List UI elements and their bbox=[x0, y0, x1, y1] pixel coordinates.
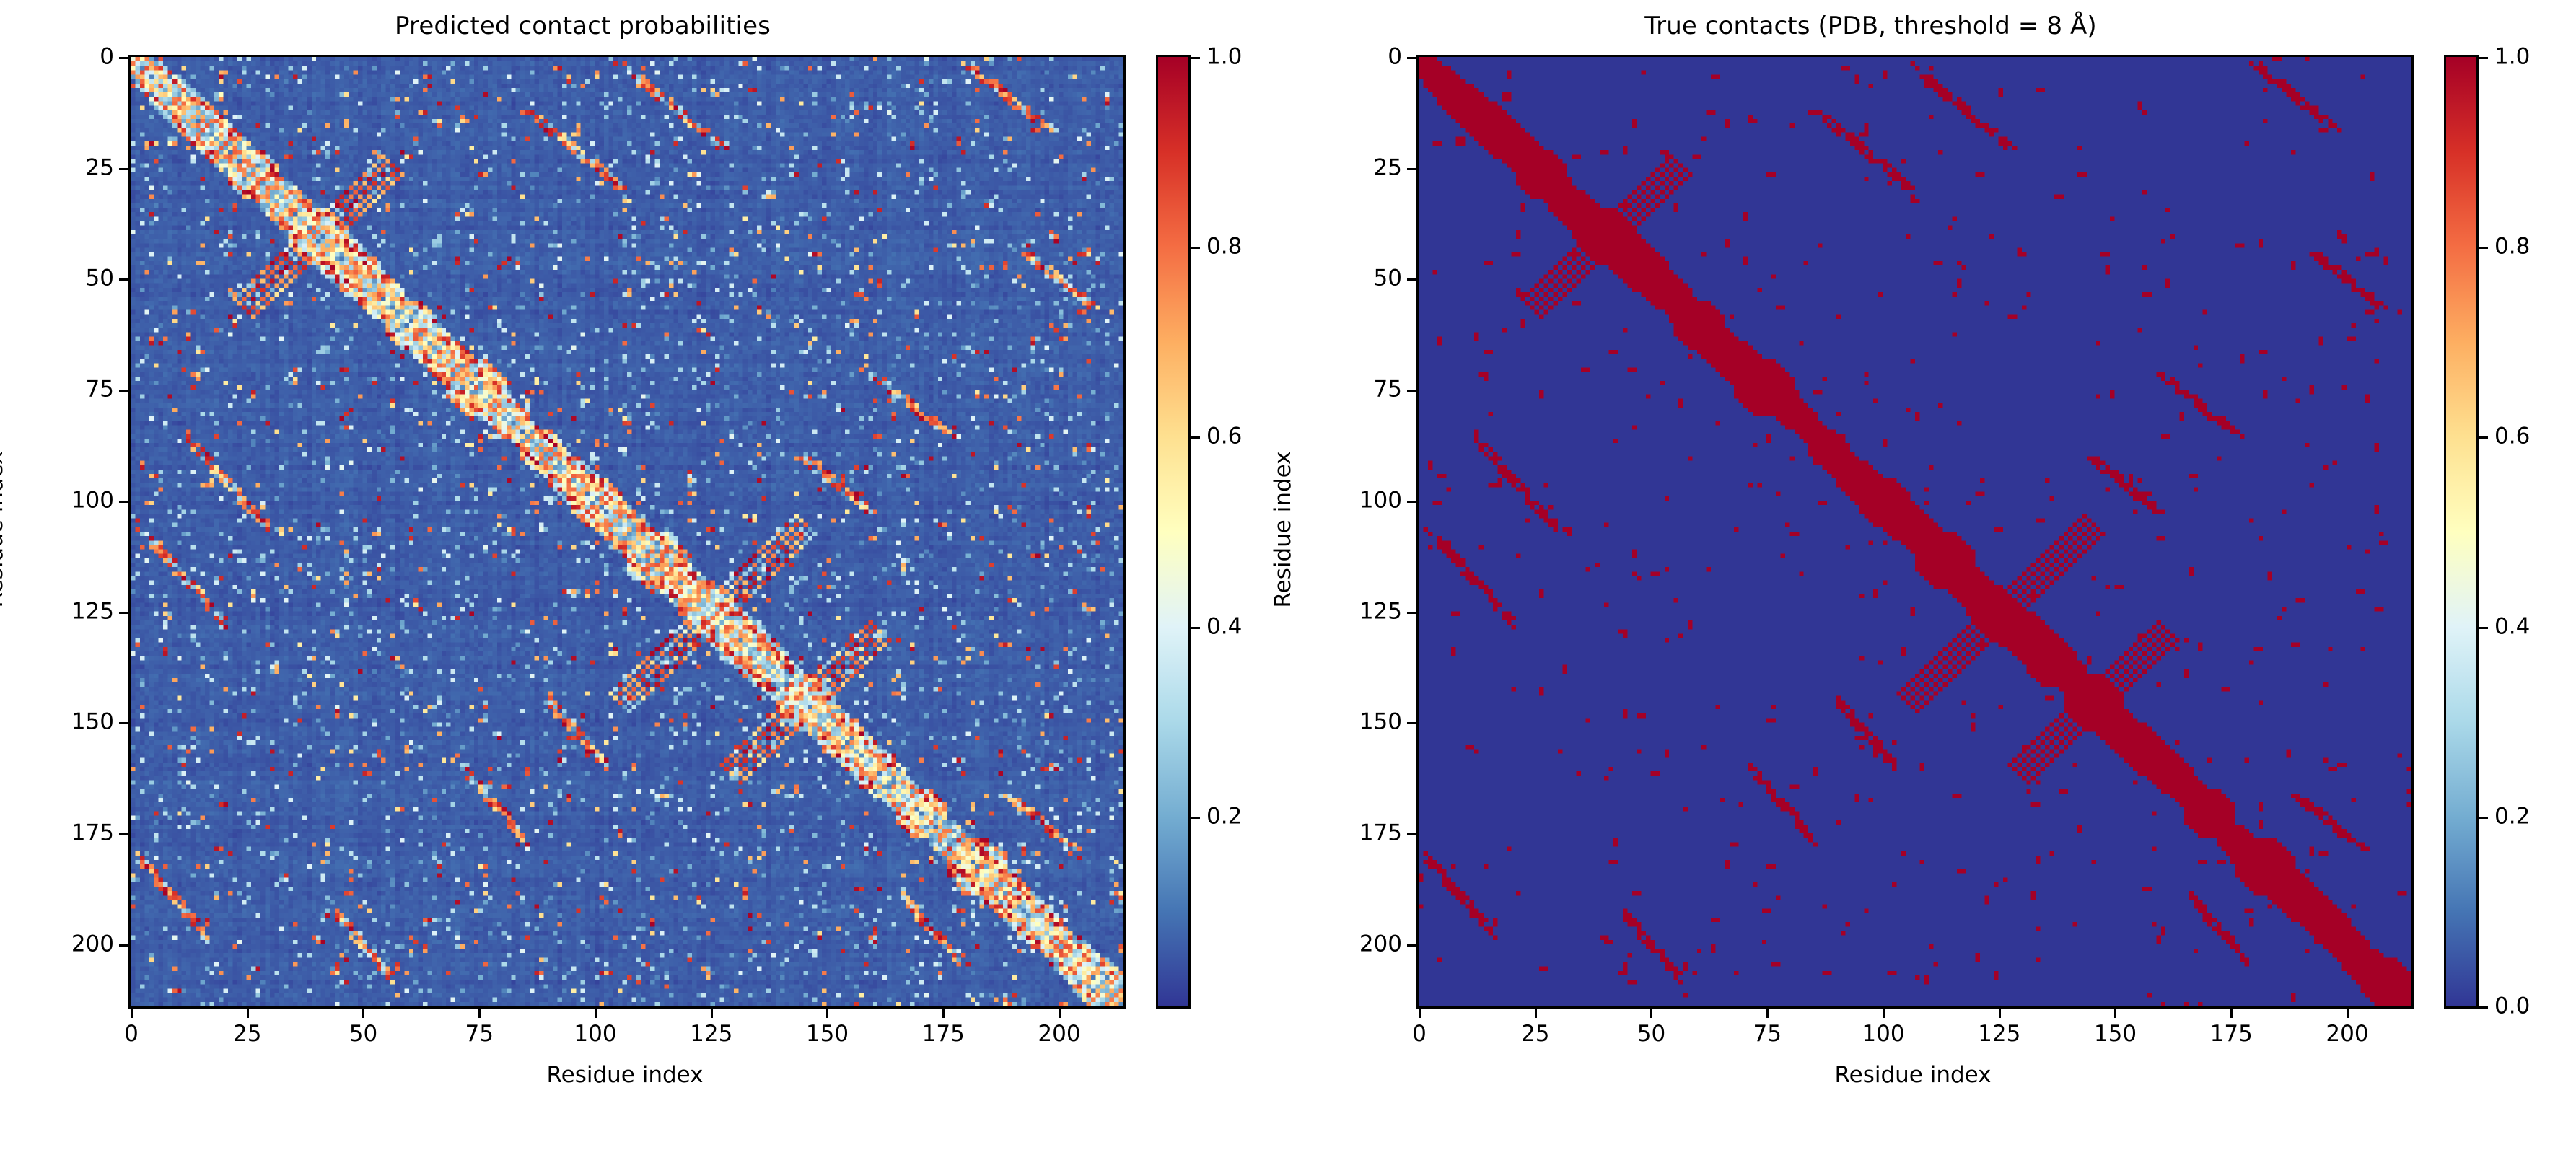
x-tick-mark bbox=[1999, 1009, 2001, 1018]
x-tick-mark bbox=[1059, 1009, 1061, 1018]
y-tick-mark bbox=[119, 390, 128, 392]
contact-map-figure: Predicted contact probabilities 02550751… bbox=[0, 0, 2576, 1155]
x-tick-label: 200 bbox=[1038, 1023, 1080, 1045]
y-tick-label: 125 bbox=[1323, 600, 1402, 623]
x-tick-mark bbox=[2230, 1009, 2233, 1018]
x-tick-label: 200 bbox=[2326, 1023, 2368, 1045]
colorbar-tick-mark bbox=[2479, 247, 2488, 249]
y-tick-label: 75 bbox=[35, 379, 114, 401]
y-tick-label: 0 bbox=[1323, 46, 1402, 69]
y-tick-label: 100 bbox=[1323, 489, 1402, 511]
x-tick-mark bbox=[1650, 1009, 1652, 1018]
y-tick-label: 125 bbox=[35, 600, 114, 623]
y-tick-mark bbox=[1407, 944, 1416, 947]
x-tick-mark bbox=[1419, 1009, 1421, 1018]
y-tick-label: 175 bbox=[1323, 822, 1402, 845]
y-axis-label-predicted: Residue index bbox=[0, 451, 8, 607]
x-tick-mark bbox=[595, 1009, 597, 1018]
x-tick-label: 100 bbox=[574, 1023, 616, 1045]
y-tick-label: 0 bbox=[35, 46, 114, 69]
colorbar-tick-mark bbox=[2479, 817, 2488, 819]
y-tick-label: 50 bbox=[35, 268, 114, 290]
colorbar-tick-label: 0.8 bbox=[2494, 236, 2530, 258]
y-tick-mark bbox=[119, 722, 128, 724]
y-tick-label: 100 bbox=[35, 489, 114, 511]
x-tick-label: 75 bbox=[1753, 1023, 1782, 1045]
y-tick-mark bbox=[1407, 501, 1416, 503]
colorbar-tick-label: 0.0 bbox=[2494, 996, 2530, 1018]
y-tick-mark bbox=[1407, 390, 1416, 392]
y-tick-label: 200 bbox=[1323, 933, 1402, 955]
x-tick-mark bbox=[711, 1009, 713, 1018]
x-axis-label-predicted: Residue index bbox=[546, 1062, 703, 1088]
x-tick-label: 0 bbox=[124, 1023, 139, 1045]
y-tick-mark bbox=[119, 278, 128, 281]
y-tick-label: 50 bbox=[1323, 268, 1402, 290]
colorbar-tick-label: 0.6 bbox=[1206, 426, 1242, 448]
y-tick-label: 150 bbox=[35, 711, 114, 734]
x-tick-mark bbox=[1535, 1009, 1537, 1018]
x-tick-mark bbox=[247, 1009, 249, 1018]
x-tick-label: 25 bbox=[233, 1023, 261, 1045]
y-tick-mark bbox=[1407, 612, 1416, 614]
colorbar-tick-mark bbox=[1191, 436, 1200, 439]
colorbar-predicted bbox=[1156, 55, 1191, 1009]
y-tick-label: 200 bbox=[35, 933, 114, 955]
panel-title-predicted: Predicted contact probabilities bbox=[0, 12, 1288, 40]
x-tick-label: 175 bbox=[2210, 1023, 2253, 1045]
y-tick-label: 175 bbox=[35, 822, 114, 845]
x-tick-label: 50 bbox=[349, 1023, 377, 1045]
colorbar-tick-mark bbox=[2479, 1006, 2488, 1009]
colorbar-true bbox=[2444, 55, 2479, 1009]
x-tick-label: 50 bbox=[1637, 1023, 1665, 1045]
heatmap-axes-predicted bbox=[128, 55, 1126, 1009]
y-tick-mark bbox=[1407, 57, 1416, 59]
colorbar-tick-mark bbox=[1191, 817, 1200, 819]
x-axis-label-true: Residue index bbox=[1834, 1062, 1991, 1088]
y-tick-mark bbox=[1407, 722, 1416, 724]
y-tick-mark bbox=[119, 833, 128, 835]
colorbar-tick-label: 0.2 bbox=[2494, 805, 2530, 827]
x-tick-label: 0 bbox=[1412, 1023, 1427, 1045]
y-tick-mark bbox=[119, 612, 128, 614]
x-tick-mark bbox=[2347, 1009, 2349, 1018]
heatmap-axes-true bbox=[1416, 55, 2414, 1009]
y-tick-label: 25 bbox=[1323, 157, 1402, 179]
x-tick-label: 150 bbox=[2094, 1023, 2137, 1045]
colorbar-tick-label: 0.8 bbox=[1206, 236, 1242, 258]
y-tick-mark bbox=[119, 944, 128, 947]
panel-true-contacts: True contacts (PDB, threshold = 8 Å) 025… bbox=[1288, 0, 2576, 1155]
colorbar-tick-mark bbox=[1191, 627, 1200, 629]
y-tick-mark bbox=[1407, 833, 1416, 835]
colorbar-tick-label: 0.4 bbox=[2494, 615, 2530, 638]
x-tick-label: 125 bbox=[690, 1023, 732, 1045]
panel-title-true: True contacts (PDB, threshold = 8 Å) bbox=[1288, 12, 2576, 40]
colorbar-tick-mark bbox=[2479, 436, 2488, 439]
colorbar-tick-mark bbox=[2479, 57, 2488, 59]
colorbar-tick-label: 1.0 bbox=[2494, 46, 2530, 69]
y-tick-label: 25 bbox=[35, 157, 114, 179]
x-tick-label: 175 bbox=[922, 1023, 965, 1045]
y-tick-mark bbox=[1407, 278, 1416, 281]
y-tick-label: 150 bbox=[1323, 711, 1402, 734]
colorbar-tick-mark bbox=[1191, 57, 1200, 59]
colorbar-tick-label: 0.4 bbox=[1206, 615, 1242, 638]
x-tick-mark bbox=[362, 1009, 364, 1018]
y-tick-mark bbox=[119, 57, 128, 59]
colorbar-tick-label: 0.6 bbox=[2494, 426, 2530, 448]
colorbar-gradient-true bbox=[2446, 57, 2476, 1006]
colorbar-tick-label: 1.0 bbox=[1206, 46, 1242, 69]
x-tick-label: 75 bbox=[465, 1023, 494, 1045]
colorbar-tick-label: 0.2 bbox=[1206, 805, 1242, 827]
x-tick-mark bbox=[826, 1009, 828, 1018]
x-tick-label: 150 bbox=[806, 1023, 849, 1045]
heatmap-predicted bbox=[131, 57, 1123, 1006]
heatmap-true bbox=[1419, 57, 2411, 1006]
y-tick-label: 75 bbox=[1323, 379, 1402, 401]
x-tick-mark bbox=[478, 1009, 481, 1018]
x-tick-label: 100 bbox=[1862, 1023, 1904, 1045]
colorbar-tick-mark bbox=[2479, 627, 2488, 629]
y-tick-mark bbox=[119, 501, 128, 503]
x-tick-mark bbox=[2114, 1009, 2116, 1018]
colorbar-tick-mark bbox=[1191, 247, 1200, 249]
x-tick-mark bbox=[1766, 1009, 1769, 1018]
colorbar-gradient-predicted bbox=[1158, 57, 1188, 1006]
x-tick-label: 25 bbox=[1521, 1023, 1549, 1045]
panel-predicted-contacts: Predicted contact probabilities 02550751… bbox=[0, 0, 1288, 1155]
y-axis-label-true: Residue index bbox=[1270, 451, 1296, 607]
x-tick-mark bbox=[131, 1009, 133, 1018]
y-tick-mark bbox=[119, 168, 128, 170]
x-tick-label: 125 bbox=[1978, 1023, 2020, 1045]
y-tick-mark bbox=[1407, 168, 1416, 170]
x-tick-mark bbox=[942, 1009, 945, 1018]
x-tick-mark bbox=[1883, 1009, 1885, 1018]
